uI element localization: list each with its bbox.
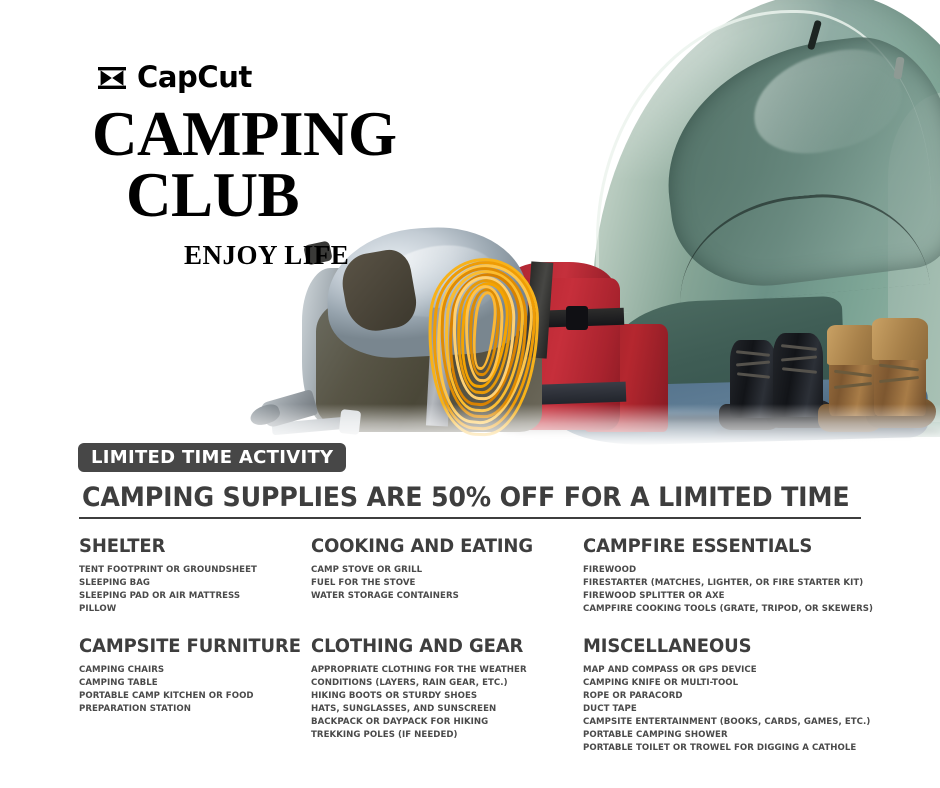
limited-time-badge: LIMITED TIME ACTIVITY [78, 443, 346, 472]
category-item-list: CAMPING CHAIRSCAMPING TABLEPORTABLE CAMP… [79, 664, 311, 716]
category-item-list: FIREWOODFIRESTARTER (MATCHES, LIGHTER, O… [583, 564, 879, 616]
category-item: FIREWOOD [583, 564, 879, 577]
brand-logo: CapCut [97, 63, 252, 92]
capcut-bowtie-icon [97, 64, 127, 92]
category-item-list: APPROPRIATE CLOTHING FOR THE WEATHER CON… [311, 664, 583, 742]
category-item: FIREWOOD SPLITTER OR AXE [583, 590, 879, 603]
category-item: CAMP STOVE OR GRILL [311, 564, 583, 577]
category-item: TENT FOOTPRINT OR GROUNDSHEET [79, 564, 311, 577]
category-item: CAMPFIRE COOKING TOOLS (GRATE, TRIPOD, O… [583, 603, 879, 616]
category-item: FUEL FOR THE STOVE [311, 577, 583, 590]
category-block: SHELTERTENT FOOTPRINT OR GROUNDSHEETSLEE… [79, 536, 311, 636]
category-item: APPROPRIATE CLOTHING FOR THE WEATHER CON… [311, 664, 583, 690]
category-item: ROPE OR PARACORD [583, 690, 879, 703]
brand-name: CapCut [137, 63, 252, 92]
category-grid: SHELTERTENT FOOTPRINT OR GROUNDSHEETSLEE… [79, 536, 879, 755]
category-title: COOKING AND EATING [311, 536, 575, 557]
red-bag-buckle [566, 306, 588, 330]
category-item-list: CAMP STOVE OR GRILLFUEL FOR THE STOVEWAT… [311, 564, 583, 603]
category-block: CAMPSITE FURNITURECAMPING CHAIRSCAMPING … [79, 636, 311, 755]
category-item: BACKPACK OR DAYPACK FOR HIKING [311, 716, 583, 729]
category-item: HIKING BOOTS OR STURDY SHOES [311, 690, 583, 703]
category-item: FIRESTARTER (MATCHES, LIGHTER, OR FIRE S… [583, 577, 879, 590]
category-block: MISCELLANEOUSMAP AND COMPASS OR GPS DEVI… [583, 636, 879, 755]
category-item: MAP AND COMPASS OR GPS DEVICE [583, 664, 879, 677]
category-block: CAMPFIRE ESSENTIALSFIREWOODFIRESTARTER (… [583, 536, 879, 636]
category-title: SHELTER [79, 536, 304, 557]
hero-title-block: CAMPING CLUB ENJOY LIFE [92, 104, 432, 271]
category-item: WATER STORAGE CONTAINERS [311, 590, 583, 603]
category-item: CAMPING CHAIRS [79, 664, 311, 677]
category-item: CAMPING KNIFE OR MULTI-TOOL [583, 677, 879, 690]
category-item: CAMPING TABLE [79, 677, 311, 690]
category-item: PORTABLE CAMPING SHOWER [583, 729, 879, 742]
category-title: CAMPSITE FURNITURE [79, 636, 304, 657]
category-item: DUCT TAPE [583, 703, 879, 716]
category-item: SLEEPING PAD OR AIR MATTRESS [79, 590, 311, 603]
category-item: PORTABLE TOILET OR TROWEL FOR DIGGING A … [583, 742, 879, 755]
category-item-list: MAP AND COMPASS OR GPS DEVICECAMPING KNI… [583, 664, 879, 755]
category-item: HATS, SUNGLASSES, AND SUNSCREEN [311, 703, 583, 716]
category-item: PILLOW [79, 603, 311, 616]
category-item: CAMPSITE ENTERTAINMENT (BOOKS, CARDS, GA… [583, 716, 879, 729]
category-block: COOKING AND EATINGCAMP STOVE OR GRILLFUE… [311, 536, 583, 636]
category-block: CLOTHING AND GEARAPPROPRIATE CLOTHING FO… [311, 636, 583, 755]
category-item-list: TENT FOOTPRINT OR GROUNDSHEETSLEEPING BA… [79, 564, 311, 616]
category-item: TREKKING POLES (IF NEEDED) [311, 729, 583, 742]
category-item: SLEEPING BAG [79, 577, 311, 590]
promo-headline: CAMPING SUPPLIES ARE 50% OFF FOR A LIMIT… [82, 482, 846, 513]
headline-divider [79, 517, 861, 519]
category-title: CLOTHING AND GEAR [311, 636, 575, 657]
category-title: MISCELLANEOUS [583, 636, 870, 657]
hero-subtitle: ENJOY LIFE [184, 240, 432, 271]
category-item: PORTABLE CAMP KITCHEN OR FOOD PREPARATIO… [79, 690, 311, 716]
category-title: CAMPFIRE ESSENTIALS [583, 536, 870, 557]
hero-title-line-1: CAMPING [92, 104, 432, 165]
hero-title-line-2: CLUB [126, 165, 432, 226]
tan-boot-cuff-right [872, 318, 928, 360]
